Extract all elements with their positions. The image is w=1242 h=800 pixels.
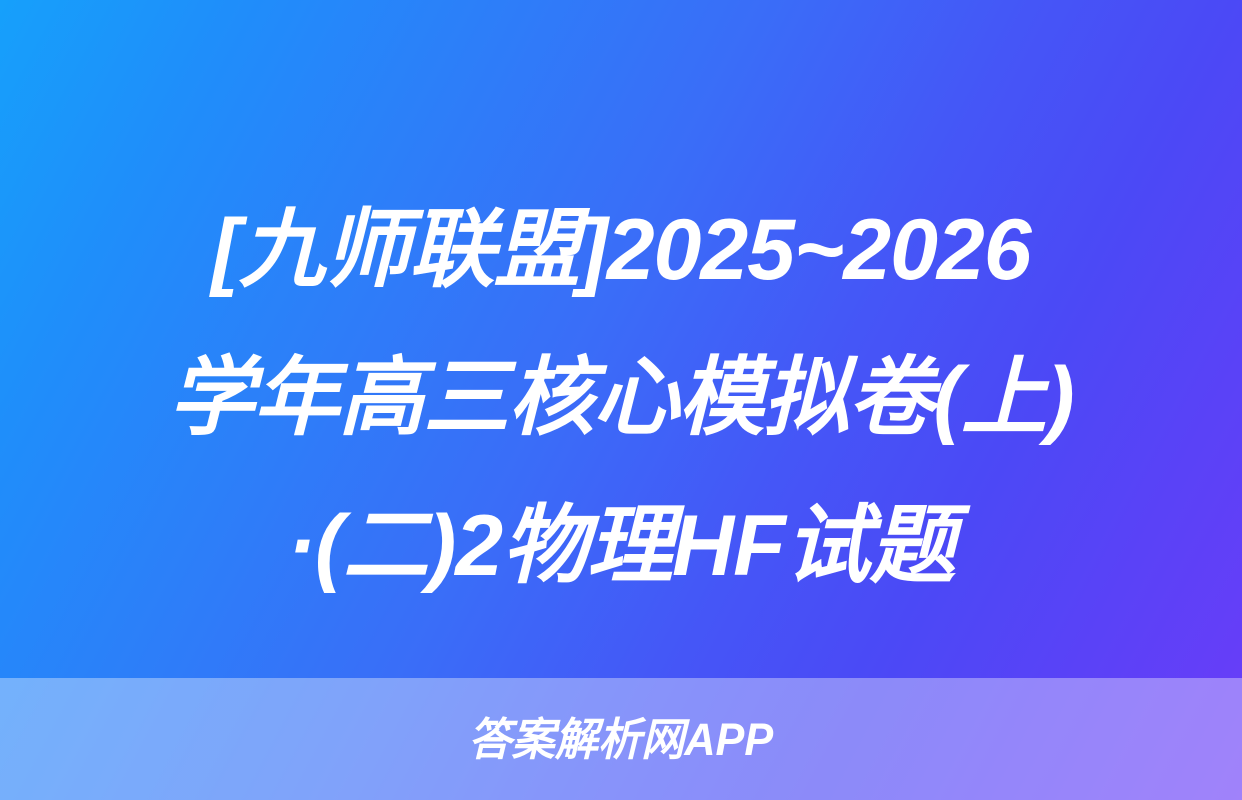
title-line-1: [九师联盟]2025~2026 (44, 176, 1198, 324)
title-line-3: ·(二)2物理HF试题 (44, 472, 1198, 620)
page-title: [九师联盟]2025~2026 学年高三核心模拟卷(上) ·(二)2物理HF试题 (0, 176, 1242, 620)
watermark-label: 答案解析网APP (469, 717, 774, 762)
exam-cover-card: [九师联盟]2025~2026 学年高三核心模拟卷(上) ·(二)2物理HF试题… (0, 0, 1242, 800)
footer-watermark-band: 答案解析网APP (0, 678, 1242, 800)
title-line-2: 学年高三核心模拟卷(上) (44, 324, 1198, 472)
